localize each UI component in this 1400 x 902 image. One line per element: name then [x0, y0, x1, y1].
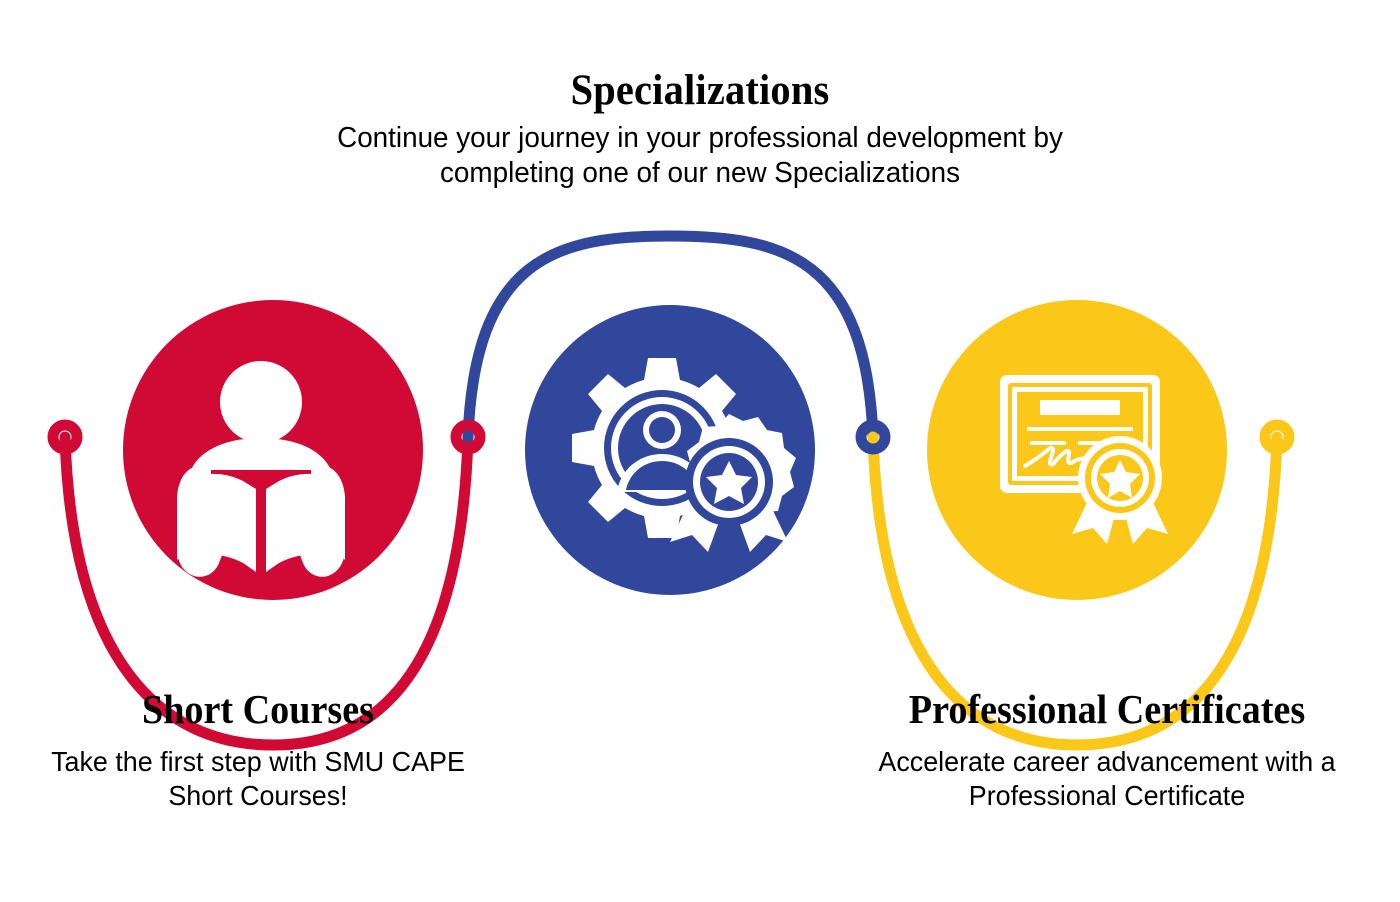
caption-body-line-1: Take the first step with SMU CAPE — [18, 745, 498, 779]
caption-body-professional-certificates: Accelerate career advancement with a Pro… — [851, 745, 1364, 813]
caption-short-courses: Short Courses Take the first step with S… — [8, 686, 508, 813]
caption-body-line-2: Short Courses! — [18, 779, 498, 813]
caption-body-line-1: Accelerate career advancement with a — [851, 745, 1364, 779]
step-circle-short-courses[interactable] — [123, 300, 423, 600]
step-circle-professional-certificates[interactable] — [927, 300, 1227, 600]
caption-body-line-2: Professional Certificate — [851, 779, 1364, 813]
caption-body-short-courses: Take the first step with SMU CAPE Short … — [18, 745, 498, 813]
caption-professional-certificates: Professional Certificates Accelerate car… — [840, 686, 1374, 813]
infographic-canvas: Specializations Continue your journey in… — [0, 0, 1400, 902]
caption-title-professional-certificates: Professional Certificates — [859, 686, 1356, 733]
caption-title-short-courses: Short Courses — [26, 686, 491, 733]
step-circle-specializations[interactable] — [525, 305, 815, 595]
